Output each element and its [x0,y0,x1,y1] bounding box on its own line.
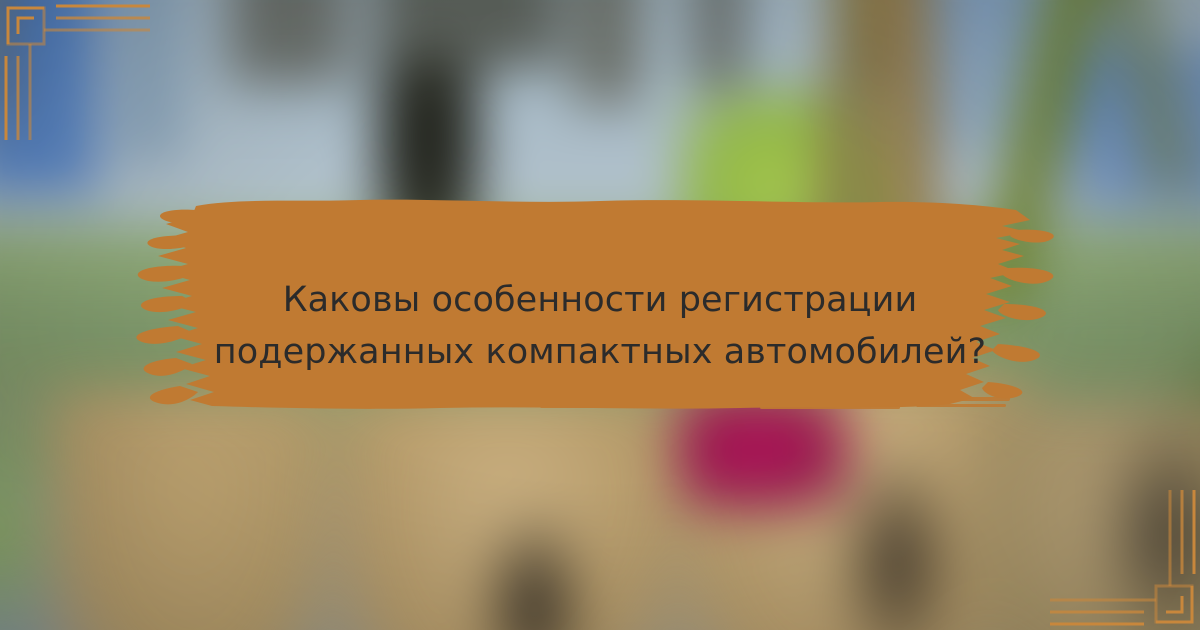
bg-window-1 [230,0,349,83]
bg-window-3 [574,0,640,105]
bg-window-2 [376,0,561,68]
bg-shadow-3 [1102,420,1200,630]
bg-window-6 [0,0,6,120]
poster-canvas: Каковы особенности регистрации подержанн… [0,0,1200,630]
headline-line-1: Каковы особенности регистрации [190,274,1010,326]
bg-shadow-2 [838,450,957,630]
headline-line-2: подержанных компактных автомобилей? [190,326,1010,378]
headline-banner: Каковы особенности регистрации подержанн… [0,186,1200,438]
headline-text: Каковы особенности регистрации подержанн… [0,274,1200,378]
bg-blue-panel [125,0,178,165]
bg-blue-banner-left [0,0,98,195]
bg-window-4 [692,0,745,90]
bg-shadow-1 [481,510,587,630]
